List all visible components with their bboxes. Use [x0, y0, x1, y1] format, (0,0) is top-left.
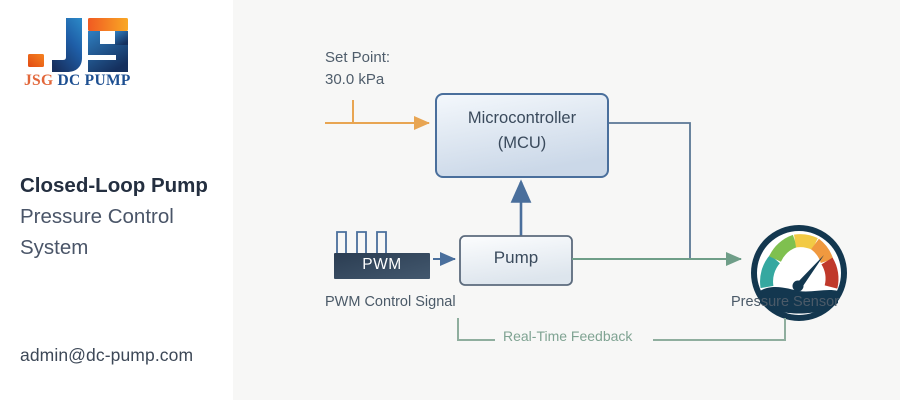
mcu-sensor-wire — [608, 123, 690, 259]
page-title: Closed-Loop Pump Pressure Control System — [20, 170, 225, 263]
brand-wordmark: JSG DC PUMP — [24, 72, 164, 90]
wordmark-dcpump: DC PUMP — [58, 72, 131, 89]
setpoint-arrow — [325, 100, 429, 123]
wordmark-jsg: JSG — [24, 72, 53, 89]
pwm-chip[interactable] — [334, 253, 430, 279]
mcu-box[interactable] — [436, 94, 608, 177]
setpoint-label-line1: Set Point: — [325, 47, 390, 69]
setpoint-label-line2: 30.0 kPa — [325, 69, 390, 91]
diagram-page: JSG DC PUMP Closed-Loop Pump Pressure Co… — [0, 0, 900, 400]
setpoint-label: Set Point: 30.0 kPa — [325, 47, 390, 91]
pressure-sensor-caption: Pressure Sensor — [731, 294, 839, 310]
page-title-strong: Closed-Loop Pump — [20, 170, 225, 201]
left-info-panel: JSG DC PUMP Closed-Loop Pump Pressure Co… — [0, 0, 233, 400]
feedback-label: Real-Time Feedback — [503, 328, 632, 344]
pwm-caption: PWM Control Signal — [325, 294, 456, 310]
pump-box[interactable] — [460, 236, 572, 285]
page-title-rest: Pressure Control System — [20, 201, 225, 263]
diagram-panel: Set Point: 30.0 kPa Microcontroller (MCU… — [233, 0, 900, 400]
contact-email[interactable]: admin@dc-pump.com — [20, 345, 193, 366]
